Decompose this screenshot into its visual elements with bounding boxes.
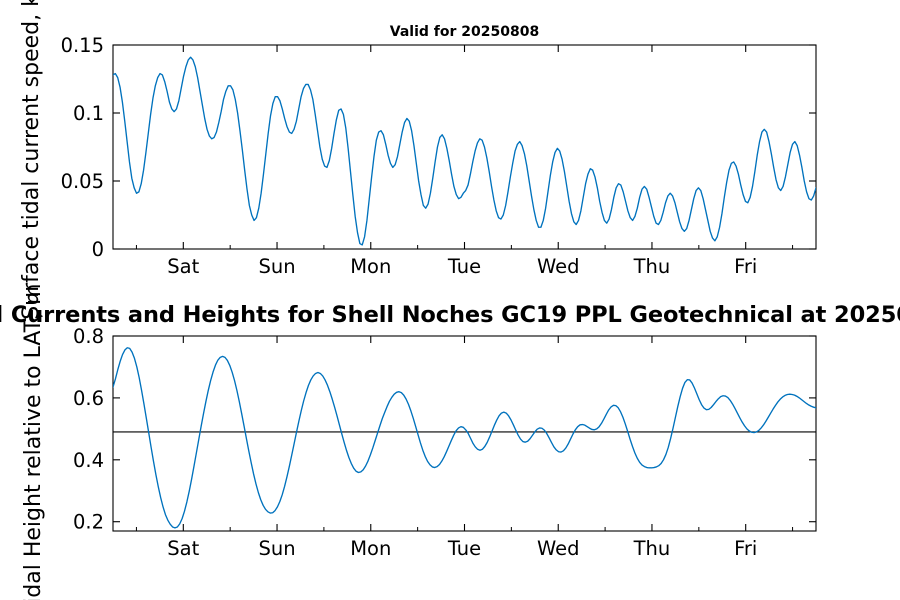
x-tick-label: Sat: [167, 255, 199, 278]
figure-super-title: Tidal Currents and Heights for Shell Noc…: [0, 302, 900, 328]
x-tick-label: Wed: [537, 537, 580, 560]
x-tick-label: Sat: [167, 537, 199, 560]
y-tick-label: 0.05: [61, 170, 104, 193]
data-series-0: [113, 348, 816, 528]
tidal-figure: 00.050.10.15SatSunMonTueWedThuFriValid f…: [0, 0, 900, 600]
y-tick-label: 0.6: [73, 387, 104, 410]
x-tick-label: Mon: [350, 537, 391, 560]
y-tick-label: 0.15: [61, 34, 104, 57]
x-tick-label: Thu: [633, 255, 671, 278]
x-tick-label: Sun: [258, 537, 295, 560]
y-axis-title: Surface tidal current speed, kn: [19, 0, 44, 320]
y-tick-label: 0.2: [73, 511, 104, 534]
axes-box: [113, 336, 816, 531]
y-axis-title: Tidal Height relative to LAT, m: [21, 283, 46, 600]
plot-title: Valid for 20250808: [390, 24, 539, 40]
x-tick-label: Fri: [734, 255, 757, 278]
x-tick-label: Tue: [447, 537, 481, 560]
figure-canvas: 00.050.10.15SatSunMonTueWedThuFriValid f…: [0, 0, 900, 600]
y-tick-label: 0.8: [73, 325, 104, 348]
plot-panel-surface-current-speed: 00.050.10.15SatSunMonTueWedThuFriValid f…: [19, 0, 816, 320]
x-tick-label: Fri: [734, 537, 757, 560]
x-tick-label: Tue: [447, 255, 481, 278]
axes-box: [113, 45, 816, 249]
x-tick-label: Sun: [258, 255, 295, 278]
y-tick-label: 0.4: [73, 449, 104, 472]
y-tick-label: 0.1: [73, 102, 104, 125]
x-tick-label: Thu: [633, 537, 671, 560]
y-tick-label: 0: [92, 238, 104, 261]
plot-panel-tidal-height: 0.20.40.60.8SatSunMonTueWedThuFriTidal H…: [21, 283, 816, 600]
x-tick-label: Mon: [350, 255, 391, 278]
data-series-0: [113, 57, 816, 245]
x-tick-label: Wed: [537, 255, 580, 278]
